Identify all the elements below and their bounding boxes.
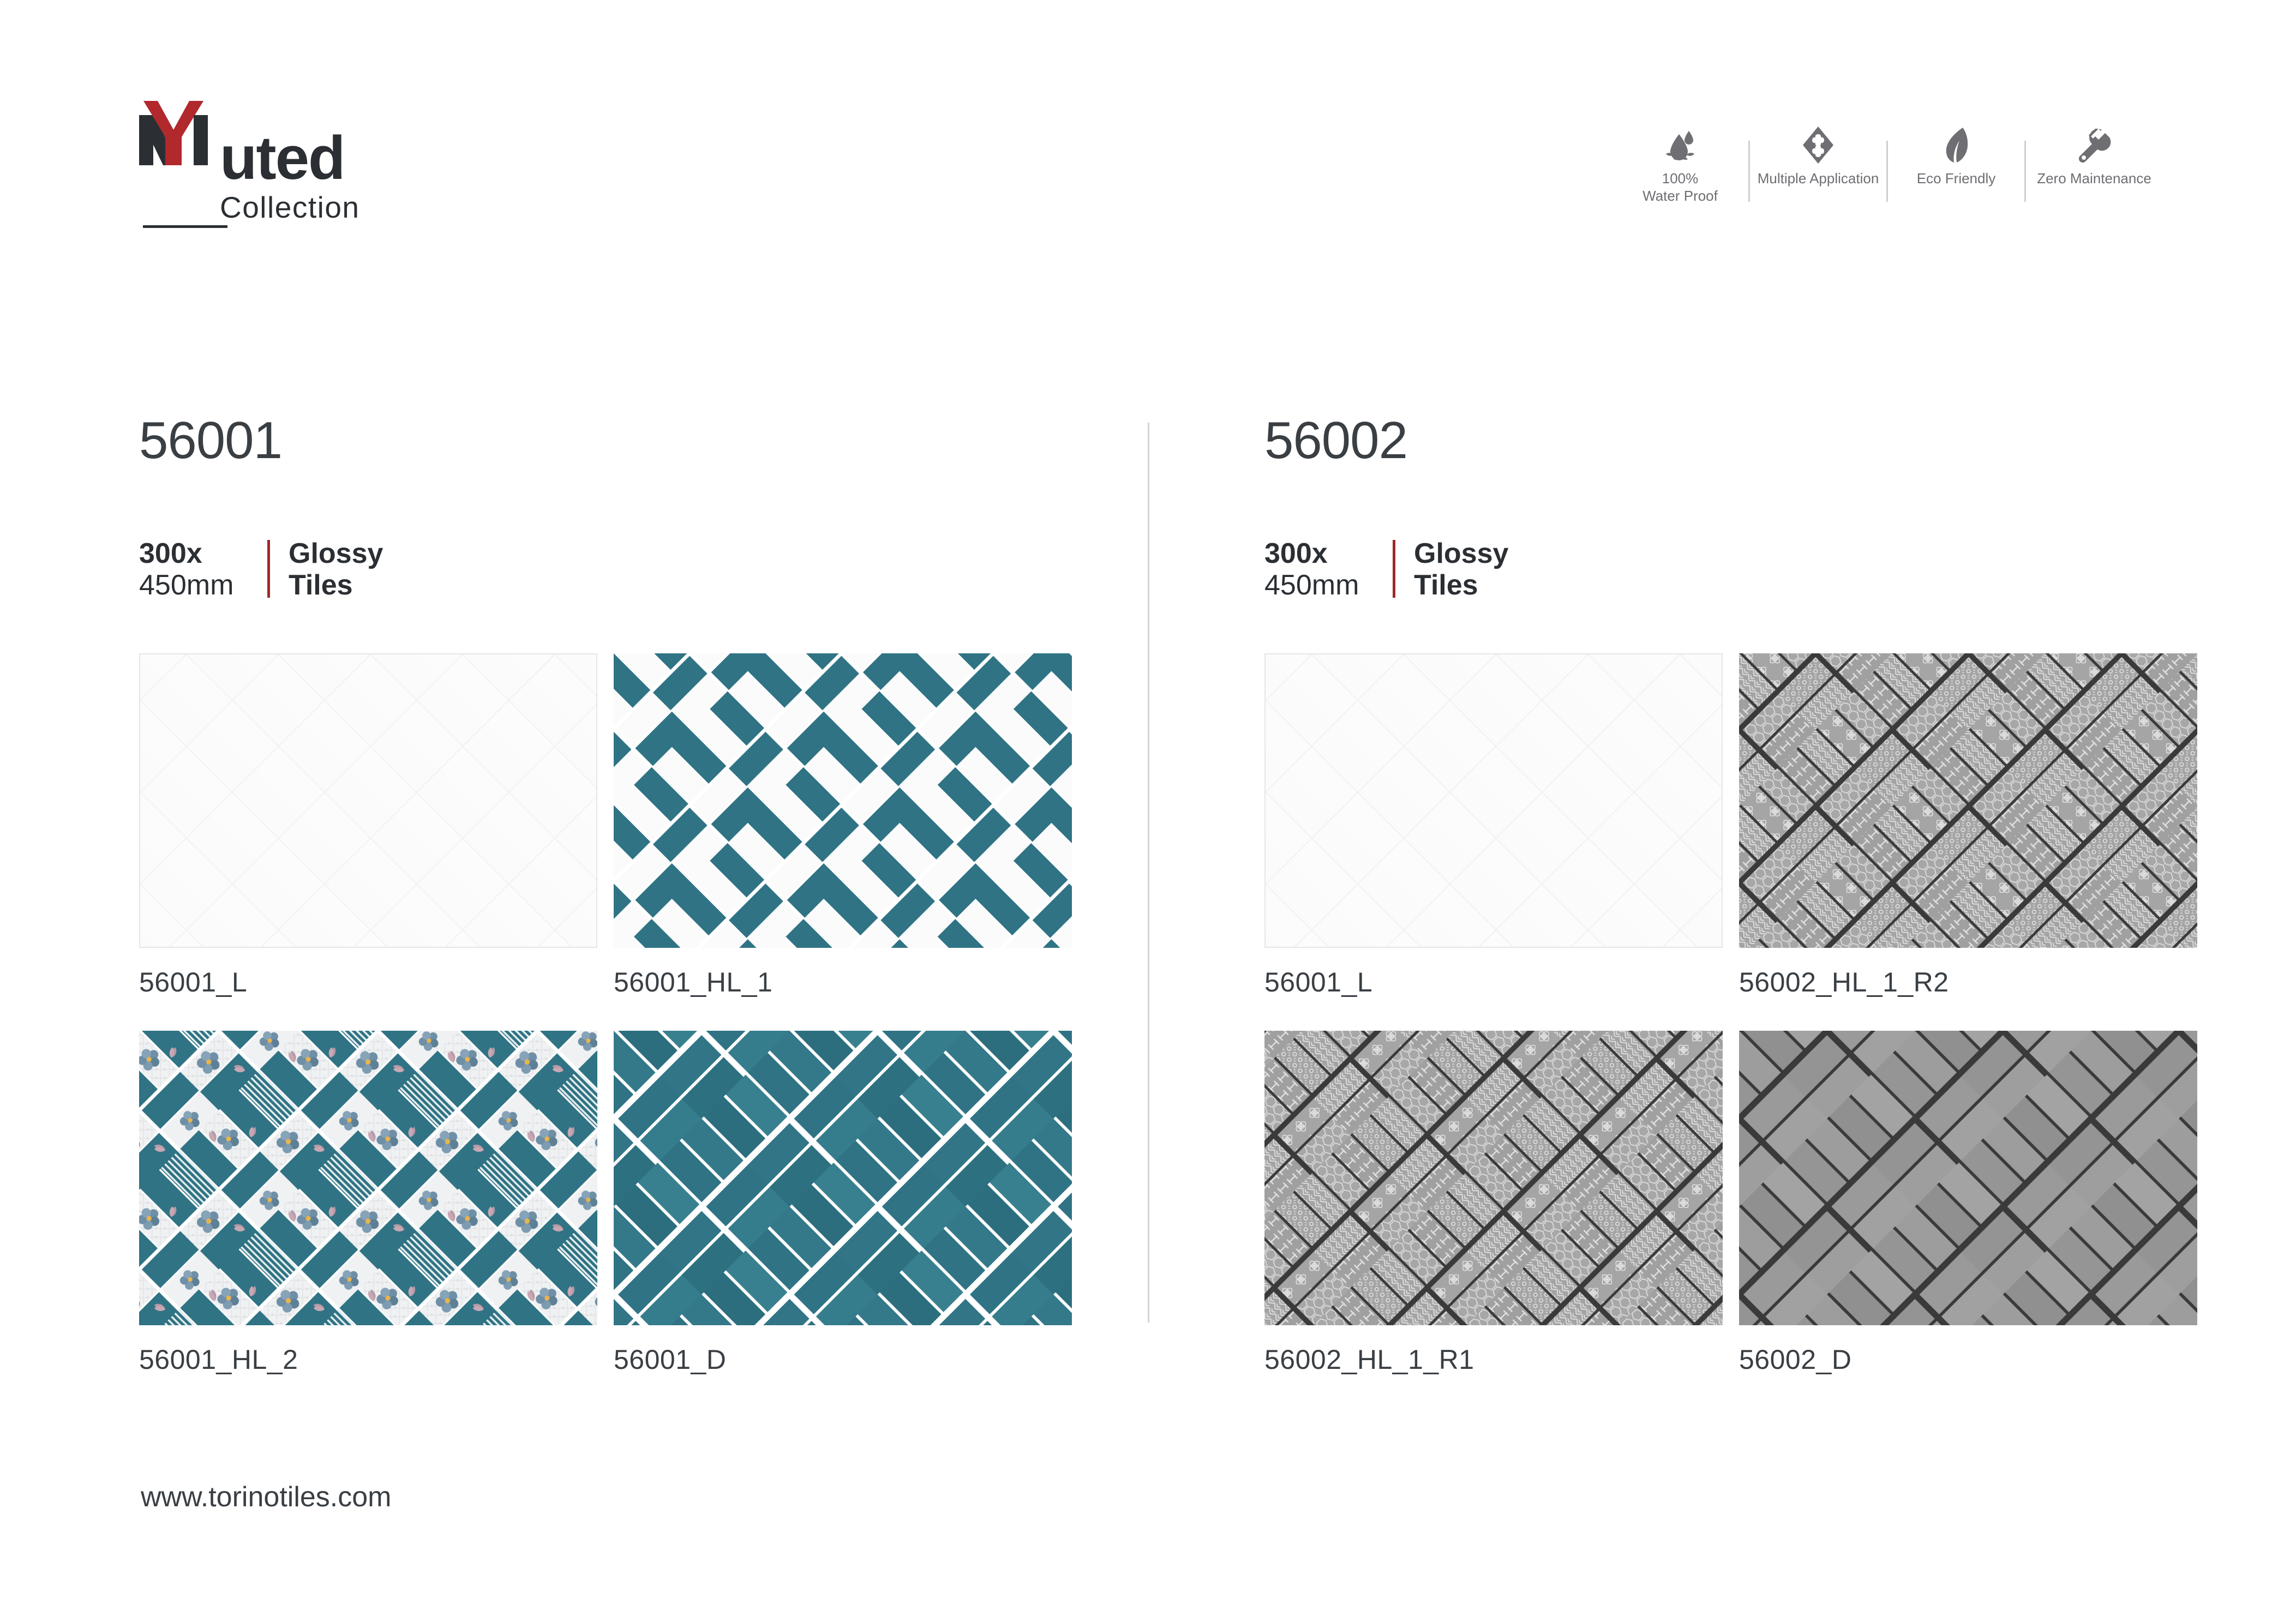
brand-logo: uted Collection <box>139 101 360 223</box>
spec-finish-line1: Glossy <box>289 538 383 569</box>
tile-label: 56002_D <box>1739 1344 2197 1375</box>
tile-label: 56001_L <box>139 966 597 998</box>
feature-label: Eco Friendly <box>1917 170 1996 188</box>
tile-cell[interactable]: 56001_L <box>1264 653 1723 1031</box>
tile-cell[interactable]: 56001_HL_1 <box>614 653 1072 1031</box>
tile-swatch-teal-floral-herringbone[interactable] <box>139 1031 597 1325</box>
tile-swatch-grey-solid-herringbone[interactable] <box>1739 1031 2197 1325</box>
spec-finish-line2: Tiles <box>1414 569 1508 601</box>
website-url[interactable]: www.torinotiles.com <box>141 1481 391 1513</box>
tile-cell[interactable]: 56001_D <box>614 1031 1072 1408</box>
feature-zero-maintenance: Zero Maintenance <box>2026 125 2162 188</box>
tile-label: 56002_HL_1_R1 <box>1264 1344 1723 1375</box>
tile-cell[interactable]: 56002_HL_1_R2 <box>1739 653 2197 1031</box>
diamond-puzzle-icon <box>1803 125 1833 164</box>
product-column-56001: 56001 300x 450mm Glossy Tiles <box>139 414 1066 1408</box>
spec-size: 300x 450mm <box>1264 538 1393 601</box>
tile-swatch-plain-white[interactable] <box>1264 653 1723 948</box>
feature-water-proof: 100% Water Proof <box>1612 125 1748 205</box>
spec-finish-line1: Glossy <box>1414 538 1508 569</box>
product-code: 56001 <box>139 414 1066 467</box>
feature-multiple-application: Multiple Application <box>1750 125 1886 188</box>
spec-separator <box>1393 540 1395 598</box>
product-specs: 300x 450mm Glossy Tiles <box>1264 538 2192 601</box>
catalog-page: uted Collection <box>0 0 2296 1623</box>
spec-finish: Glossy Tiles <box>289 538 383 601</box>
tile-swatch-grey-textured-herringbone-r1[interactable] <box>1264 1031 1723 1325</box>
tile-label: 56001_L <box>1264 966 1723 998</box>
product-code: 56002 <box>1264 414 2192 467</box>
spec-size-line1: 300x <box>1264 538 1393 569</box>
column-divider <box>1148 423 1149 1323</box>
feature-badges: 100% Water Proof Multiple Application <box>1612 125 2162 205</box>
water-drop-icon <box>1665 125 1695 164</box>
tile-label: 56002_HL_1_R2 <box>1739 966 2197 998</box>
tile-grid: 56001_L <box>139 653 1072 1408</box>
product-column-56002: 56002 300x 450mm Glossy Tiles <box>1264 414 2192 1408</box>
tile-cell[interactable]: 56001_L <box>139 653 597 1031</box>
spec-size-line2: 450mm <box>1264 569 1393 601</box>
feature-label: Multiple Application <box>1758 170 1879 188</box>
spec-separator <box>267 540 270 598</box>
feature-eco-friendly: Eco Friendly <box>1888 125 2024 188</box>
feature-label: Zero Maintenance <box>2037 170 2151 188</box>
tile-swatch-plain-white[interactable] <box>139 653 597 948</box>
page-header: uted Collection <box>0 0 2296 273</box>
product-specs: 300x 450mm Glossy Tiles <box>139 538 1066 601</box>
feature-label: 100% Water Proof <box>1642 170 1718 205</box>
tile-swatch-grey-textured-herringbone-r2[interactable] <box>1739 653 2197 948</box>
tile-label: 56001_D <box>614 1344 1072 1375</box>
tile-label: 56001_HL_1 <box>614 966 1072 998</box>
brand-name: uted <box>220 129 360 187</box>
tile-cell[interactable]: 56001_HL_2 <box>139 1031 597 1408</box>
muted-m-chevron-logo-icon <box>139 101 215 175</box>
spec-size-line2: 450mm <box>139 569 267 601</box>
spec-size: 300x 450mm <box>139 538 267 601</box>
spec-finish: Glossy Tiles <box>1414 538 1508 601</box>
tile-label: 56001_HL_2 <box>139 1344 597 1375</box>
wrench-icon <box>2077 125 2112 164</box>
tile-cell[interactable]: 56002_D <box>1739 1031 2197 1408</box>
brand-tagline: Collection <box>220 193 360 223</box>
tile-swatch-teal-solid-herringbone[interactable] <box>614 1031 1072 1325</box>
leaf-icon <box>1944 125 1968 164</box>
spec-size-line1: 300x <box>139 538 267 569</box>
tile-cell[interactable]: 56002_HL_1_R1 <box>1264 1031 1723 1408</box>
collection-underline-rule <box>143 225 227 228</box>
tile-grid: 56001_L <box>1264 653 2197 1408</box>
tile-swatch-teal-white-herringbone[interactable] <box>614 653 1072 948</box>
spec-finish-line2: Tiles <box>289 569 383 601</box>
